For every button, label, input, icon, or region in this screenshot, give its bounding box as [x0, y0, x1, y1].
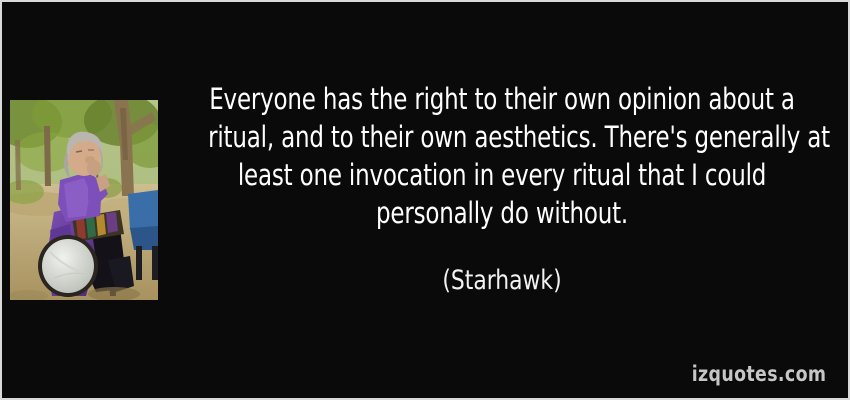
- portrait-illustration: [10, 100, 158, 300]
- quote-text: Everyone has the right to their own opin…: [168, 80, 836, 232]
- quote-line-2: ritual, and to their own aesthetics. The…: [208, 118, 796, 156]
- quote-line-1: Everyone has the right to their own opin…: [208, 80, 796, 118]
- quote-line-3: least one invocation in every ritual tha…: [208, 156, 796, 194]
- quote-line-4: personally do without.: [208, 194, 796, 232]
- author-portrait-image: [10, 100, 158, 300]
- site-watermark: izquotes.com: [691, 362, 826, 386]
- quote-card: Everyone has the right to their own opin…: [0, 0, 850, 400]
- quote-attribution: (Starhawk): [201, 264, 802, 298]
